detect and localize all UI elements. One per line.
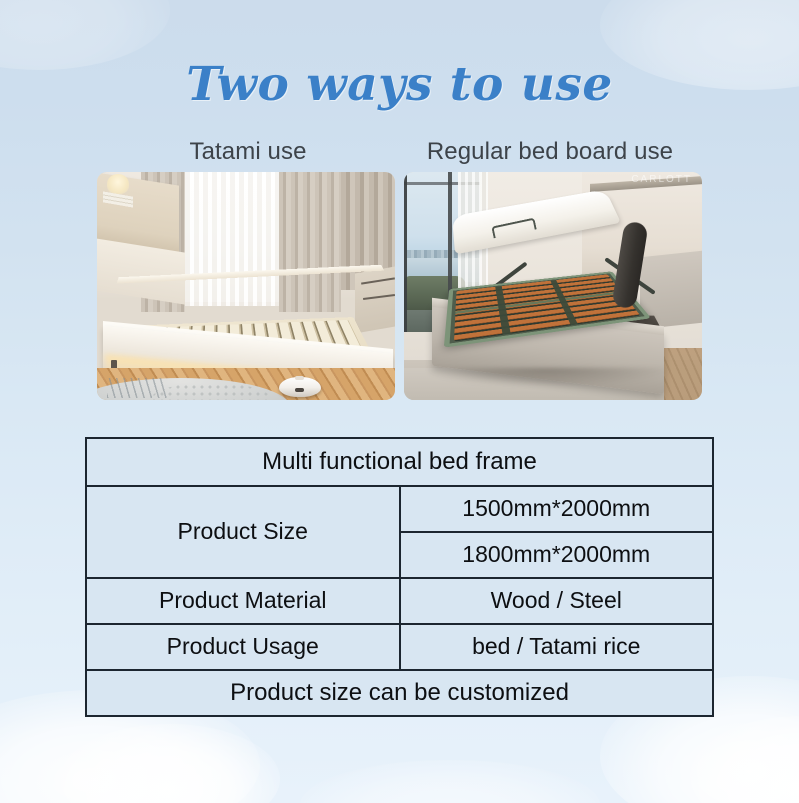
- robot-vacuum-button: [295, 388, 304, 392]
- product-spec-table: Multi functional bed frame Product Size …: [85, 437, 714, 717]
- sheer-curtain: [181, 172, 283, 306]
- spec-table-footer: Product size can be customized: [86, 670, 713, 716]
- table-lamp: [107, 174, 129, 194]
- cloud-decoration-bottom-center: [300, 760, 600, 803]
- caption-tatami-use: Tatami use: [97, 138, 399, 166]
- infographic-page: Two ways to use Tatami use Regular bed b…: [0, 0, 799, 803]
- nightstand: [355, 266, 395, 333]
- spec-table-header: Multi functional bed frame: [86, 438, 713, 486]
- robot-vacuum: [279, 377, 321, 397]
- robot-vacuum-lidar: [295, 376, 304, 380]
- tatami-use-photo: [97, 172, 395, 400]
- table-row-footer: Product size can be customized: [86, 670, 713, 716]
- spec-label-product-usage: Product Usage: [86, 624, 400, 670]
- caption-regular-bed-board-use: Regular bed board use: [399, 138, 701, 166]
- photo-captions: Tatami use Regular bed board use: [97, 138, 702, 166]
- floor-shadow: [428, 368, 668, 386]
- photo-watermark: CARLOTT: [631, 174, 692, 185]
- spec-value-product-size-2: 1800mm*2000mm: [400, 532, 714, 578]
- spec-value-product-material: Wood / Steel: [400, 578, 714, 624]
- curtain-right: [279, 172, 341, 312]
- regular-bed-board-use-photo: CARLOTT: [404, 172, 702, 400]
- cloud-decoration-bottom-right-2: [690, 716, 799, 803]
- photo-gallery: CARLOTT: [97, 172, 702, 400]
- table-row: Product Usage bed / Tatami rice: [86, 624, 713, 670]
- spec-label-product-material: Product Material: [86, 578, 400, 624]
- rug-pattern-dots: [151, 384, 271, 400]
- cloud-decoration-bottom-left-2: [60, 724, 280, 803]
- table-row: Product Size 1500mm*2000mm: [86, 486, 713, 532]
- spec-value-product-usage: bed / Tatami rice: [400, 624, 714, 670]
- rug-pattern-lines: [107, 378, 167, 398]
- table-row-header: Multi functional bed frame: [86, 438, 713, 486]
- spec-label-product-size: Product Size: [86, 486, 400, 578]
- page-title: Two ways to use: [0, 57, 799, 112]
- table-row: Product Material Wood / Steel: [86, 578, 713, 624]
- spec-value-product-size-1: 1500mm*2000mm: [400, 486, 714, 532]
